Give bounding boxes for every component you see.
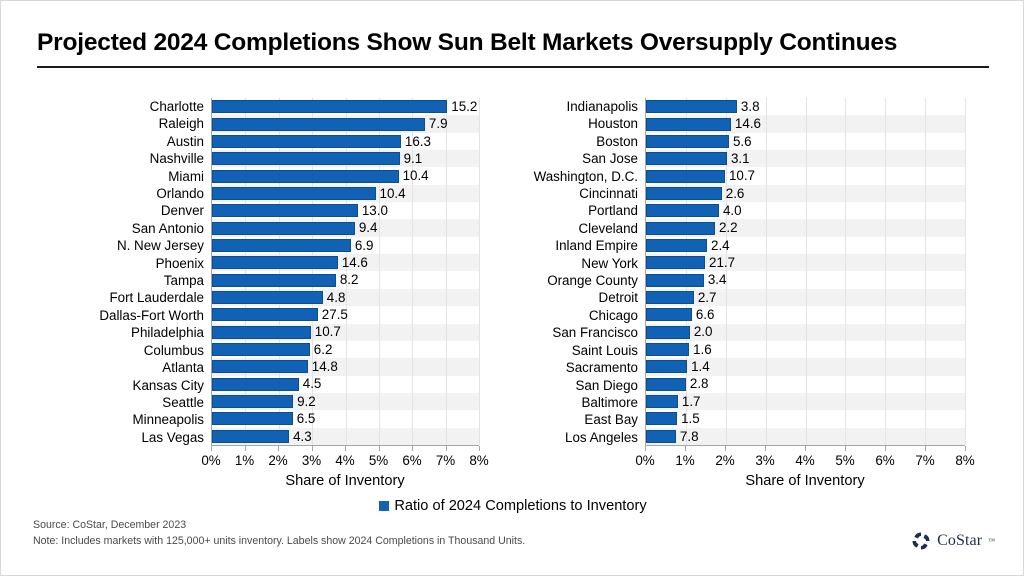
bar [212,187,376,200]
axis-tick [312,446,313,451]
bar-row: 1.7 [646,393,965,410]
bar-value-label: 10.7 [729,169,755,182]
axis-tick [965,446,966,451]
bar [212,100,447,113]
axis-tick-label: 0% [635,453,654,468]
bar-row: 10.4 [212,185,479,202]
bar-value-label: 16.3 [405,135,431,148]
bar-row: 4.5 [212,376,479,393]
category-label: Austin [97,133,209,150]
bar [212,291,323,304]
bar [212,239,351,252]
bar-row: 6.9 [212,237,479,254]
methodology-note: Note: Includes markets with 125,000+ uni… [33,533,733,549]
axis-tick-label: 7% [915,453,934,468]
category-label: Los Angeles [506,429,643,446]
bar-value-label: 9.2 [297,395,316,408]
axis-tick-label: 7% [436,453,455,468]
bar [646,135,729,148]
category-label: San Antonio [97,220,209,237]
category-label: Boston [506,133,643,150]
x-axis-title-left: Share of Inventory [211,473,479,489]
bar-value-label: 9.1 [404,152,423,165]
axis-tick [379,446,380,451]
category-label: Detroit [506,289,643,306]
bar-row: 14.8 [212,358,479,375]
legend-label: Ratio of 2024 Completions to Inventory [394,498,646,514]
bar-value-label: 10.4 [403,169,429,182]
bar-row: 4.8 [212,289,479,306]
bar-value-label: 27.5 [322,308,348,321]
bar [212,308,318,321]
costar-wordmark: CoStar [937,532,982,550]
category-label: Fort Lauderdale [97,289,209,306]
bar-value-label: 6.2 [314,343,333,356]
category-label: N. New Jersey [97,237,209,254]
category-labels-left: CharlotteRaleighAustinNashvilleMiamiOrla… [97,98,209,446]
bar-row: 3.8 [646,98,965,115]
costar-mark-icon [911,531,931,551]
bar-row: 3.1 [646,150,965,167]
axis-tick [925,446,926,451]
bar-rows-right: 3.814.65.63.110.72.64.02.22.421.73.42.76… [646,98,965,445]
category-label: Raleigh [97,115,209,132]
bar [212,412,293,425]
title-block: Projected 2024 Completions Show Sun Belt… [37,29,989,68]
bar-value-label: 3.8 [741,100,760,113]
bar-value-label: 1.5 [681,412,700,425]
axis-tick-label: 3% [302,453,321,468]
bar-value-label: 1.6 [693,343,712,356]
bar-row: 2.8 [646,376,965,393]
plot-area-right: 3.814.65.63.110.72.64.02.22.421.73.42.76… [645,98,965,446]
bar-row: 3.4 [646,271,965,288]
bar-row: 5.6 [646,133,965,150]
bar [646,256,705,269]
bar [212,256,338,269]
x-axis-title-right: Share of Inventory [645,473,965,489]
category-label: San Jose [506,150,643,167]
axis-tick-label: 2% [715,453,734,468]
axis-tick-label: 4% [335,453,354,468]
category-label: Sacramento [506,359,643,376]
category-label: New York [506,255,643,272]
bar-row: 16.3 [212,133,479,150]
bar-value-label: 2.6 [726,187,745,200]
category-label: Minneapolis [97,411,209,428]
bar-row: 14.6 [646,115,965,132]
bar-value-label: 2.7 [698,291,717,304]
bar-value-label: 8.2 [340,273,359,286]
category-label: Inland Empire [506,237,643,254]
category-label: San Francisco [506,324,643,341]
bar-value-label: 14.8 [312,360,338,373]
bar [646,100,737,113]
bar-row: 7.8 [646,428,965,445]
axis-tick [245,446,246,451]
chart-legend: Ratio of 2024 Completions to Inventory [1,498,1024,514]
bar-row: 8.2 [212,271,479,288]
axis-tick [278,446,279,451]
axis-tick [765,446,766,451]
axis-tick [446,446,447,451]
axis-tick-label: 0% [201,453,220,468]
bar [212,378,299,391]
bar-value-label: 15.2 [451,100,477,113]
bar-row: 7.9 [212,115,479,132]
bar-value-label: 4.8 [327,291,346,304]
bar [212,204,358,217]
bar-value-label: 2.4 [711,239,730,252]
bar [212,135,401,148]
category-label: Phoenix [97,255,209,272]
gridline [965,98,966,445]
bar [646,308,692,321]
axis-tick-label: 1% [675,453,694,468]
axis-tick-label: 6% [402,453,421,468]
bar [646,239,707,252]
bar [646,118,731,131]
bar-row: 2.0 [646,323,965,340]
axis-tick-label: 5% [369,453,388,468]
chart-panels: CharlotteRaleighAustinNashvilleMiamiOrla… [1,98,1024,498]
bar [646,395,678,408]
axis-tick-label: 1% [235,453,254,468]
bar [646,274,704,287]
bar [646,326,690,339]
bar-value-label: 5.6 [733,135,752,148]
bar-value-label: 4.3 [293,430,312,443]
axis-tick-label: 2% [268,453,287,468]
bar [212,430,289,443]
axis-tick [345,446,346,451]
axis-tick [211,446,212,451]
bar-value-label: 7.8 [680,430,699,443]
bar-value-label: 4.5 [303,377,322,390]
bar-row: 1.5 [646,410,965,427]
costar-logo: CoStar ™ [911,531,995,551]
category-label: Portland [506,202,643,219]
category-label: East Bay [506,411,643,428]
bar-row: 10.4 [212,167,479,184]
bar-value-label: 2.8 [690,377,709,390]
bar-value-label: 10.7 [315,325,341,338]
x-axis-right: 0%1%2%3%4%5%6%7%8% [645,446,965,468]
axis-tick-label: 3% [755,453,774,468]
category-label: Denver [97,202,209,219]
bar-row: 2.6 [646,185,965,202]
axis-tick [805,446,806,451]
chart-panel-right: IndianapolisHoustonBostonSan JoseWashing… [506,98,981,498]
bar [212,222,355,235]
bar-value-label: 9.4 [359,221,378,234]
source-note: Source: CoStar, December 2023 [33,517,733,533]
category-label: Philadelphia [97,324,209,341]
axis-tick [725,446,726,451]
bar-rows-left: 15.27.916.39.110.410.413.09.46.914.68.24… [212,98,479,445]
bar [212,326,311,339]
bar-row: 6.2 [212,341,479,358]
bar-row: 9.1 [212,150,479,167]
page-title: Projected 2024 Completions Show Sun Belt… [37,29,989,57]
bar-value-label: 3.1 [731,152,750,165]
bar [212,152,400,165]
bar [646,170,725,183]
bar-row: 6.6 [646,306,965,323]
bar [646,222,715,235]
category-label: Charlotte [97,98,209,115]
bar-value-label: 7.9 [429,117,448,130]
bar-value-label: 21.7 [709,256,735,269]
bar [646,412,677,425]
category-label: Las Vegas [97,429,209,446]
category-label: Chicago [506,307,643,324]
bar-value-label: 10.4 [380,187,406,200]
bar-row: 9.2 [212,393,479,410]
bar [212,274,336,287]
category-label: Houston [506,115,643,132]
bar-value-label: 1.4 [691,360,710,373]
bar [646,343,689,356]
category-label: Baltimore [506,394,643,411]
category-label: Atlanta [97,359,209,376]
category-label: Seattle [97,394,209,411]
bar-row: 9.4 [212,219,479,236]
bar-value-label: 1.7 [682,395,701,408]
bar-row: 2.2 [646,219,965,236]
axis-tick [885,446,886,451]
trademark-symbol: ™ [988,537,995,545]
category-label: Indianapolis [506,98,643,115]
bar [646,187,722,200]
bar-row: 27.5 [212,306,479,323]
category-label: Washington, D.C. [506,168,643,185]
axis-tick [845,446,846,451]
bar-row: 21.7 [646,254,965,271]
axis-tick [645,446,646,451]
bar-value-label: 6.5 [297,412,316,425]
category-label: Dallas-Fort Worth [97,307,209,324]
category-labels-right: IndianapolisHoustonBostonSan JoseWashing… [506,98,643,446]
bar-row: 2.4 [646,237,965,254]
axis-tick-label: 4% [795,453,814,468]
bar-value-label: 2.0 [694,325,713,338]
bar [212,360,308,373]
bar-value-label: 13.0 [362,204,388,217]
bar-value-label: 14.6 [735,117,761,130]
axis-tick [412,446,413,451]
bar [212,343,310,356]
category-label: Orlando [97,185,209,202]
title-divider [37,66,989,68]
axis-tick [685,446,686,451]
bar-row: 10.7 [212,323,479,340]
category-label: Cincinnati [506,185,643,202]
bar [212,395,293,408]
bar [646,360,687,373]
bar-value-label: 3.4 [708,273,727,286]
axis-tick-label: 8% [955,453,974,468]
category-label: Tampa [97,272,209,289]
bar-row: 4.0 [646,202,965,219]
bar-row: 10.7 [646,167,965,184]
plot-area-left: 15.27.916.39.110.410.413.09.46.914.68.24… [211,98,479,446]
bar-row: 13.0 [212,202,479,219]
chart-panel-left: CharlotteRaleighAustinNashvilleMiamiOrla… [97,98,497,498]
bar [646,291,694,304]
bar-value-label: 4.0 [723,204,742,217]
footer-block: Source: CoStar, December 2023 Note: Incl… [33,517,733,550]
bar-value-label: 2.2 [719,221,738,234]
x-axis-left: 0%1%2%3%4%5%6%7%8% [211,446,479,468]
bar [646,152,727,165]
category-label: Miami [97,168,209,185]
category-label: Orange County [506,272,643,289]
category-label: Saint Louis [506,342,643,359]
category-label: San Diego [506,377,643,394]
category-label: Cleveland [506,220,643,237]
bar-value-label: 6.6 [696,308,715,321]
bar-value-label: 14.6 [342,256,368,269]
gridline [479,98,480,445]
category-label: Nashville [97,150,209,167]
bar-row: 4.3 [212,428,479,445]
bar [646,430,676,443]
bar-row: 14.6 [212,254,479,271]
bar-value-label: 6.9 [355,239,374,252]
axis-tick-label: 5% [835,453,854,468]
chart-page: Projected 2024 Completions Show Sun Belt… [0,0,1024,576]
bar-row: 1.4 [646,358,965,375]
bar [646,378,686,391]
bar-row: 1.6 [646,341,965,358]
bar [212,118,425,131]
axis-tick-label: 6% [875,453,894,468]
axis-tick-label: 8% [469,453,488,468]
category-label: Columbus [97,342,209,359]
category-label: Kansas City [97,377,209,394]
axis-tick [479,446,480,451]
bar-row: 2.7 [646,289,965,306]
bar [212,170,399,183]
bar-row: 6.5 [212,410,479,427]
legend-swatch-icon [379,501,389,511]
bar [646,204,719,217]
bar-row: 15.2 [212,98,479,115]
